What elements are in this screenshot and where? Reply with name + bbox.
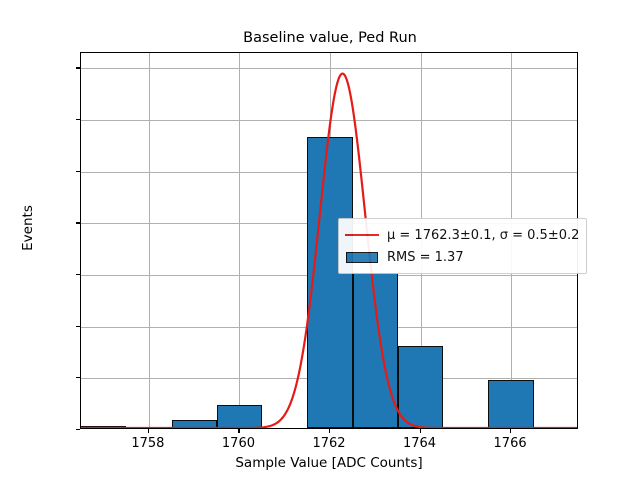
legend-label-rms: RMS = 1.37 [387, 250, 464, 265]
x-tick-mark [510, 429, 511, 433]
x-tick-label: 1762 [312, 436, 345, 451]
histogram-bar [353, 273, 398, 428]
y-tick-mark [76, 119, 80, 120]
x-tick-mark [238, 429, 239, 433]
y-tick-mark [76, 67, 80, 68]
x-tick-label: 1760 [222, 436, 255, 451]
histogram-bar [307, 137, 352, 428]
histogram-bar [81, 426, 126, 428]
x-tick-mark [329, 429, 330, 433]
histogram-bar [488, 380, 533, 428]
x-axis-label: Sample Value [ADC Counts] [80, 455, 578, 471]
y-tick-mark [76, 171, 80, 172]
y-tick-mark [76, 429, 80, 430]
gridline-vertical [149, 53, 150, 428]
y-tick-mark [76, 274, 80, 275]
x-tick-label: 1764 [403, 436, 436, 451]
y-tick-mark [76, 326, 80, 327]
gridline-horizontal [81, 68, 577, 69]
legend-line-swatch [344, 227, 380, 243]
gridline-horizontal [81, 120, 577, 121]
x-tick-label: 1766 [494, 436, 527, 451]
legend: μ = 1762.3±0.1, σ = 0.5±0.2 RMS = 1.37 [338, 218, 587, 274]
legend-item-fit: μ = 1762.3±0.1, σ = 0.5±0.2 [344, 224, 579, 246]
histogram-bar [217, 405, 262, 428]
y-tick-mark [76, 222, 80, 223]
y-axis-label: Events [20, 188, 36, 268]
page-title: Baseline value, Ped Run [80, 30, 580, 46]
histogram-bar [398, 346, 443, 428]
x-tick-mark [420, 429, 421, 433]
legend-item-rms: RMS = 1.37 [344, 246, 579, 268]
x-tick-mark [148, 429, 149, 433]
gridline-vertical [239, 53, 240, 428]
legend-patch-swatch [344, 249, 380, 265]
legend-label-fit: μ = 1762.3±0.1, σ = 0.5±0.2 [387, 228, 579, 243]
x-tick-label: 1758 [131, 436, 164, 451]
matplotlib-figure: Baseline value, Ped Run 0500100015002000… [0, 0, 640, 480]
y-tick-mark [76, 377, 80, 378]
histogram-bar [172, 420, 217, 428]
